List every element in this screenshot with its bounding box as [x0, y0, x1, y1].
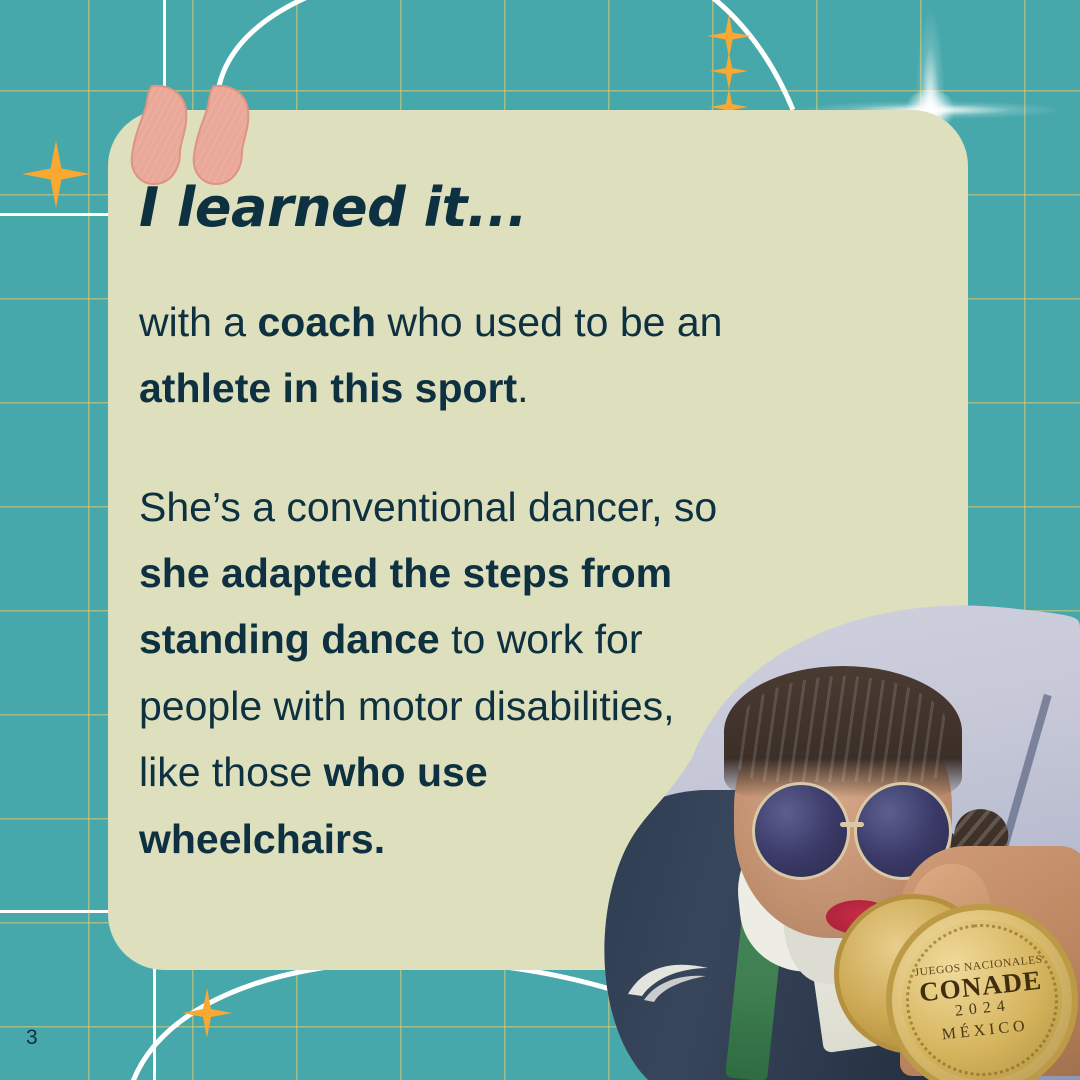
- star-icon-top-right-2: [710, 52, 748, 90]
- quote-paragraph-1: with a coach who used to be an athlete i…: [139, 289, 854, 422]
- quote-heading: I learned it...: [139, 180, 899, 237]
- star-icon-bottom: [182, 988, 232, 1038]
- star-icon-left: [22, 140, 90, 208]
- brand-logo-icon: [622, 956, 718, 1004]
- quote-paragraph-2: She’s a conventional dancer, so she adap…: [139, 474, 729, 872]
- page-number: 3: [26, 1026, 38, 1050]
- slide-canvas: I learned it... with a coach who used to…: [0, 0, 1080, 1080]
- star-icon-top-right-1: [707, 14, 751, 58]
